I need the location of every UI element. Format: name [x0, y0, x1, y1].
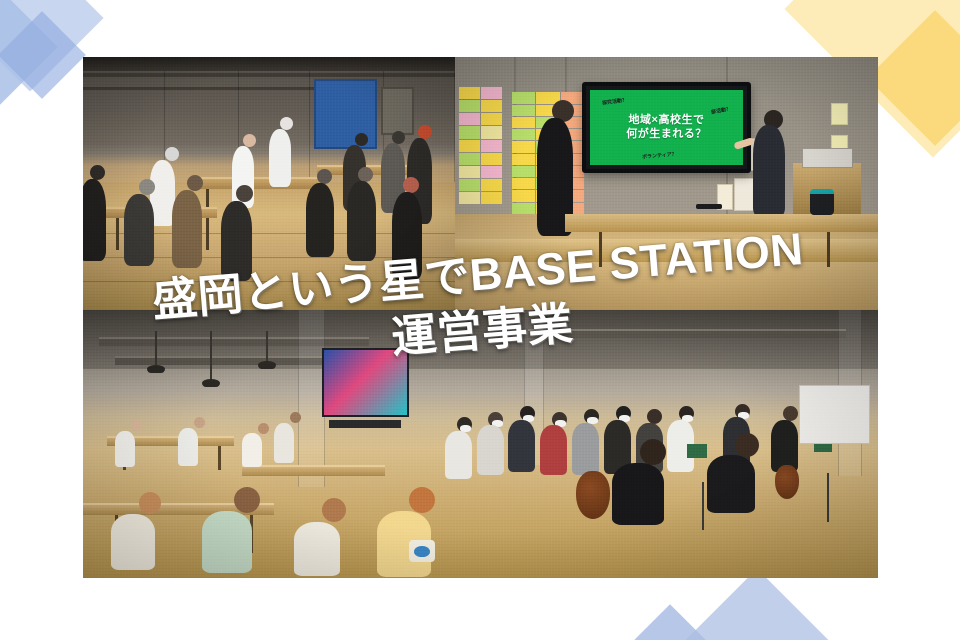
music-stand: [687, 444, 707, 458]
slide-main-line1: 地域×高校生で: [629, 114, 705, 127]
person-head: [165, 147, 179, 161]
sticky-note: [481, 87, 502, 99]
musician-body: [612, 463, 664, 525]
sticky-note: [512, 154, 535, 165]
hanging-lamp-cord: [155, 331, 157, 365]
music-stand-pole: [827, 473, 829, 521]
table: [195, 177, 321, 189]
person-body: [306, 183, 334, 257]
presentation-monitor: 探究活動？ 部活動？ 地域×高校生で 何が生まれる？ ボランティア？: [582, 82, 751, 173]
hanging-lamp-shade: [147, 365, 165, 373]
wall-paper: [831, 103, 848, 126]
sticky-note: [512, 203, 535, 214]
photo-hall-scene: [83, 310, 878, 578]
photo-hall-audience-ensemble: [83, 310, 878, 578]
hanging-lamp-shade: [258, 361, 276, 369]
person-body: [540, 425, 567, 475]
person-body: [508, 420, 535, 472]
person-head: [234, 487, 260, 513]
person-head: [355, 133, 368, 146]
person-head: [409, 487, 435, 513]
table-leg: [827, 232, 830, 267]
sticky-note: [481, 126, 502, 138]
teal-speaker: [810, 189, 834, 215]
grey-panel: [381, 87, 414, 135]
white-panel: [799, 385, 871, 444]
projector-stand: [329, 420, 401, 428]
musician-head: [640, 439, 666, 465]
wall-panel: [165, 71, 239, 182]
wooden-table: [565, 214, 878, 232]
musician-head: [735, 433, 759, 457]
person-body: [294, 522, 340, 576]
ceiling-duct: [99, 337, 369, 346]
laptop: [802, 148, 853, 168]
person-head: [647, 409, 662, 424]
wooden-table-front: [455, 239, 878, 262]
person-body: [202, 511, 252, 573]
cello: [576, 471, 610, 519]
person-body: [83, 179, 106, 261]
sticky-note: [481, 100, 502, 112]
sticky-note: [459, 100, 480, 112]
sticky-note: [481, 140, 502, 152]
ceiling-duct: [528, 329, 846, 338]
sticky-note: [512, 129, 535, 140]
sticky-note: [481, 113, 502, 125]
person-body: [477, 425, 504, 475]
sticky-note: [459, 140, 480, 152]
person-head: [290, 412, 301, 423]
sticky-note: [459, 153, 480, 165]
table-leg: [599, 232, 602, 267]
person-body: [771, 420, 798, 472]
slide-note-top-left: 探究活動？: [602, 96, 628, 106]
person-body: [178, 428, 198, 466]
person-body: [572, 423, 599, 475]
musician-body: [707, 455, 755, 513]
sticky-note: [512, 141, 535, 152]
person-body: [347, 181, 376, 261]
slide-note-top-right: 部活動？: [710, 105, 731, 115]
bear-logo-icon: [414, 546, 430, 557]
floor-seam: [83, 281, 455, 282]
presentation-screen: 探究活動？ 部活動？ 地域×高校生で 何が生まれる？ ボランティア？: [590, 90, 743, 165]
person-head: [322, 498, 346, 522]
person-head: [139, 179, 155, 195]
photo-presentation-scene: 探究活動？ 部活動？ 地域×高校生で 何が生まれる？ ボランティア？: [455, 57, 878, 310]
sticky-note: [459, 192, 480, 204]
sticky-note: [512, 178, 535, 189]
sticky-note: [512, 92, 535, 103]
person-body: [124, 194, 154, 266]
tshirt-logo: [409, 540, 435, 562]
slide-canvas: 探究活動？ 部活動？ 地域×高校生で 何が生まれる？ ボランティア？: [0, 0, 960, 640]
person-body: [221, 201, 252, 281]
table: [242, 465, 385, 476]
sticky-note: [459, 166, 480, 178]
person-head-cap: [418, 125, 432, 139]
violin: [775, 465, 799, 499]
ceiling-band: [83, 57, 455, 71]
sticky-note: [481, 166, 502, 178]
person-body: [392, 192, 422, 280]
sticky-note-wall-left: [459, 87, 501, 203]
sticky-note: [481, 179, 502, 191]
person-body: [445, 431, 472, 479]
photo-presentation-green-slide: 探究活動？ 部活動？ 地域×高校生で 何が生まれる？ ボランティア？: [455, 57, 878, 310]
person-head-cap: [403, 177, 419, 193]
hanging-lamp-shade: [202, 379, 220, 387]
hanging-lamp-cord: [266, 331, 268, 361]
person-body: [269, 129, 291, 187]
sticky-note: [512, 117, 535, 128]
sticky-note: [481, 153, 502, 165]
sticky-note: [459, 113, 480, 125]
sticky-note: [459, 87, 480, 99]
person-head: [258, 423, 269, 434]
table-leg: [218, 446, 221, 470]
person-body: [172, 190, 202, 268]
microphone: [696, 204, 722, 209]
presenter-right-body: [753, 125, 785, 217]
table-leg: [116, 218, 119, 250]
hanging-lamp-cord: [210, 331, 212, 379]
music-stand-pole: [702, 482, 704, 530]
person-head: [243, 134, 256, 147]
wall-paper: [734, 178, 755, 211]
sticky-note: [512, 166, 535, 177]
person-head: [131, 420, 142, 431]
sticky-note: [512, 190, 535, 201]
person-head: [236, 185, 253, 202]
person-body: [115, 431, 135, 467]
slide-note-bottom: ボランティア？: [642, 151, 677, 161]
photo-workshop-scene: [83, 57, 455, 310]
sticky-note: [459, 179, 480, 191]
sticky-note: [459, 126, 480, 138]
sticky-note: [512, 105, 535, 116]
photo-collage: 探究活動？ 部活動？ 地域×高校生で 何が生まれる？ ボランティア？: [83, 57, 878, 578]
sticky-note: [481, 192, 502, 204]
person-body: [242, 433, 262, 467]
person-body: [274, 423, 294, 463]
table-leg: [206, 218, 209, 250]
person-head: [139, 492, 161, 514]
photo-workshop-tables: [83, 57, 455, 310]
person-body: [111, 514, 155, 570]
slide-main-line2: 何が生まれる？: [626, 128, 707, 141]
projector-screen: [322, 348, 409, 418]
person-head: [194, 417, 205, 428]
